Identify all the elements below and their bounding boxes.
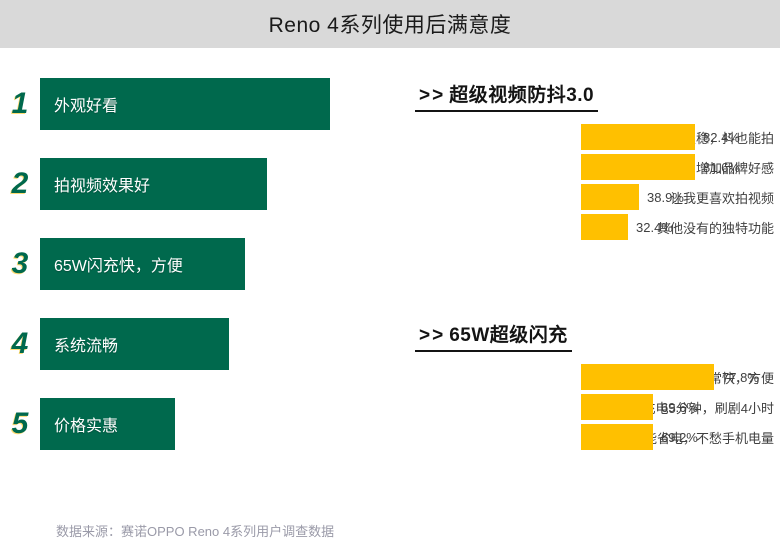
chart-group-heading: >>超级视频防抖3.0 <box>415 80 598 112</box>
chart-group-heading: >>65W超级闪充 <box>415 320 572 352</box>
rank-bar: 65W闪充快，方便 <box>40 238 245 290</box>
rank-bar: 外观好看 <box>40 78 330 130</box>
bar-row: 速度非常快，方便77.8% <box>415 362 780 392</box>
bar-fill <box>581 394 653 420</box>
rank-bar: 拍视频效果好 <box>40 158 267 210</box>
bar-track: 69.2% <box>581 422 698 452</box>
bar-track: 38.9% <box>581 182 684 212</box>
bar-value-label: 32.4% <box>636 220 673 235</box>
bar-track: 81.6% <box>581 152 740 182</box>
rank-number: 3 <box>0 249 40 279</box>
chevron-right-icon: >> <box>419 85 445 106</box>
bar-row: 让我更喜欢拍视频38.9% <box>415 182 780 212</box>
bar-value-label: 82.4% <box>703 130 740 145</box>
bar-fill <box>581 364 714 390</box>
bar-track: 32.4% <box>581 212 673 242</box>
title-band: Reno 4系列使用后满意度 <box>0 0 780 48</box>
bar-value-label: 69.6% <box>661 400 698 415</box>
chart-group-title: 超级视频防抖3.0 <box>449 85 594 106</box>
rank-number: 4 <box>0 329 40 359</box>
data-source-note: 数据来源：赛诺OPPO Reno 4系列用户调查数据 <box>56 521 334 540</box>
rank-label: 拍视频效果好 <box>40 172 150 196</box>
bar-track: 69.6% <box>581 392 698 422</box>
chart-group-video-stabilization: >>超级视频防抖3.0 拍视频很稳，抖也能拍82.4%技术强，增加品牌好感81.… <box>415 80 780 242</box>
bar-fill <box>581 424 653 450</box>
bar-track: 77.8% <box>581 362 759 392</box>
bar-chart: 拍视频很稳，抖也能拍82.4%技术强，增加品牌好感81.6%让我更喜欢拍视频38… <box>415 122 780 242</box>
list-item: 3 65W闪充快，方便 <box>0 238 245 290</box>
bar-row: 技术强，增加品牌好感81.6% <box>415 152 780 182</box>
bar-row: 其他没有的独特功能32.4% <box>415 212 780 242</box>
bar-fill <box>581 124 695 150</box>
rank-number: 1 <box>0 89 40 119</box>
rank-label: 65W闪充快，方便 <box>40 252 183 276</box>
rank-label: 价格实惠 <box>40 412 118 436</box>
rank-number: 2 <box>0 169 40 199</box>
chart-group-fast-charge: >>65W超级闪充 速度非常快，方便77.8%充电5分钟，刷剧4小时69.6%智… <box>415 320 780 452</box>
list-item: 5 价格实惠 <box>0 398 175 450</box>
bar-row: 拍视频很稳，抖也能拍82.4% <box>415 122 780 152</box>
bar-value-label: 81.6% <box>703 160 740 175</box>
bar-value-label: 77.8% <box>722 370 759 385</box>
ranked-reasons-list: 1 外观好看 2 拍视频效果好 3 65W闪充快，方便 4 系统流畅 5 价格实… <box>0 78 400 478</box>
bar-fill <box>581 184 639 210</box>
bar-fill <box>581 214 628 240</box>
rank-bar: 价格实惠 <box>40 398 175 450</box>
list-item: 4 系统流畅 <box>0 318 229 370</box>
rank-label: 系统流畅 <box>40 332 118 356</box>
bar-row: 充电5分钟，刷剧4小时69.6% <box>415 392 780 422</box>
list-item: 1 外观好看 <box>0 78 330 130</box>
rank-bar: 系统流畅 <box>40 318 229 370</box>
chart-group-title: 65W超级闪充 <box>449 325 568 346</box>
list-item: 2 拍视频效果好 <box>0 158 267 210</box>
rank-label: 外观好看 <box>40 92 118 116</box>
bar-track: 82.4% <box>581 122 740 152</box>
bar-row: 智能省电，不愁手机电量69.2% <box>415 422 780 452</box>
bar-chart: 速度非常快，方便77.8%充电5分钟，刷剧4小时69.6%智能省电，不愁手机电量… <box>415 362 780 452</box>
page-title: Reno 4系列使用后满意度 <box>269 9 512 39</box>
rank-number: 5 <box>0 409 40 439</box>
bar-value-label: 69.2% <box>661 430 698 445</box>
chevron-right-icon: >> <box>419 325 445 346</box>
bar-value-label: 38.9% <box>647 190 684 205</box>
bar-fill <box>581 154 695 180</box>
